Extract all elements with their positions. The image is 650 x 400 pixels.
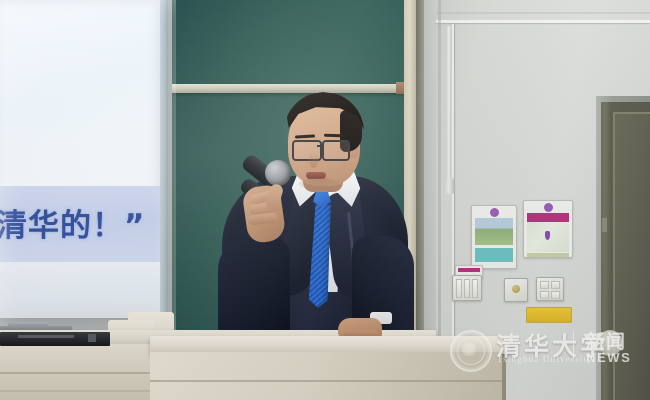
- warning-label: [526, 307, 572, 323]
- wall-conduit-cap: [444, 178, 454, 194]
- chalkboard-frame-shadow: [416, 0, 424, 340]
- chin-shadow: [298, 178, 340, 190]
- projection-screen-edge: [160, 0, 168, 320]
- door-hinge: [602, 218, 607, 232]
- control-console-button[interactable]: [88, 334, 96, 342]
- watermark-section-en: NEWS: [586, 350, 631, 365]
- eyebrow-right: [324, 134, 343, 138]
- podium-panel-line: [150, 380, 502, 382]
- nose: [309, 152, 318, 168]
- chalk-tray-rail: [166, 84, 414, 93]
- watermark-university-en: Tsinghua University: [497, 354, 593, 364]
- tsinghua-seal-icon: [450, 330, 492, 372]
- microphone-head: [265, 160, 291, 186]
- eyeglasses-bridge: [317, 145, 324, 147]
- eyeglasses-lens-right: [322, 140, 350, 161]
- light-switch-panel[interactable]: [452, 275, 482, 301]
- wall-seam-upper: [436, 12, 650, 14]
- pushpin-icon: [544, 203, 553, 212]
- poster-caption: [475, 248, 513, 262]
- poster-image: [475, 218, 513, 245]
- watermark-divider: [573, 331, 574, 361]
- outlet-plate[interactable]: [504, 278, 528, 302]
- poster-footer: [527, 253, 569, 258]
- switch-rockers[interactable]: [453, 276, 481, 301]
- control-console-slot: [18, 335, 74, 338]
- outlet-knob-icon: [512, 285, 520, 293]
- poster-map-image: [527, 222, 569, 252]
- pushpin-icon: [490, 208, 499, 217]
- switch-quad-grid[interactable]: [537, 278, 563, 302]
- podium-body: [150, 352, 502, 400]
- photograph: 清华的！”: [0, 0, 650, 400]
- wall-conduit: [447, 26, 451, 186]
- projection-screen-lower: [0, 262, 162, 318]
- switch-panel-quad[interactable]: [536, 277, 564, 301]
- campus-photo-notice: [471, 205, 517, 269]
- wall-seam-horizontal: [436, 20, 650, 23]
- campus-map-notice: [523, 200, 573, 258]
- slide-text: 清华的！”: [0, 200, 156, 245]
- poster-header: [527, 213, 569, 222]
